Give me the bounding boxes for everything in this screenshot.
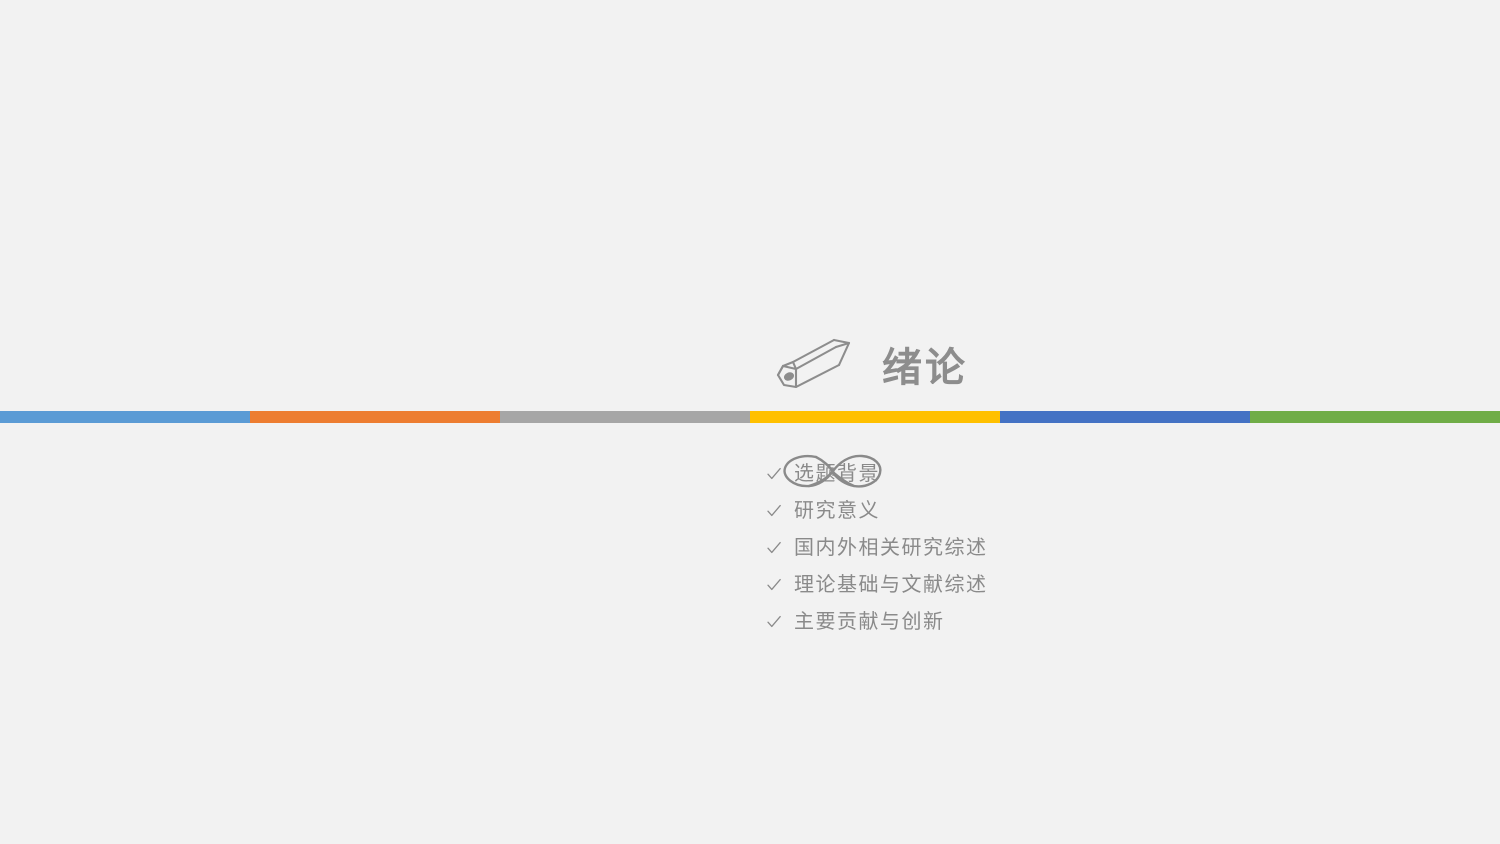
divider-segment [1250, 411, 1500, 423]
list-item[interactable]: 选题背景 [766, 455, 988, 492]
list-item-label: 理论基础与文献综述 [794, 575, 988, 595]
check-icon [766, 614, 782, 630]
divider-segment [1000, 411, 1250, 423]
section-title-block: 绪论 [770, 330, 968, 406]
color-divider-bar [0, 411, 1500, 423]
list-item-label: 研究意义 [794, 501, 880, 521]
check-icon [766, 540, 782, 556]
list-item-label: 选题背景 [794, 464, 880, 484]
list-item-label: 国内外相关研究综述 [794, 538, 988, 558]
check-icon [766, 466, 782, 482]
check-icon [766, 503, 782, 519]
list-item-label: 主要贡献与创新 [794, 612, 945, 632]
pencil-icon [770, 335, 856, 401]
page-title: 绪论 [882, 348, 968, 388]
list-item[interactable]: 研究意义 [766, 492, 988, 529]
list-item[interactable]: 主要贡献与创新 [766, 603, 988, 640]
divider-segment [0, 411, 250, 423]
list-item[interactable]: 理论基础与文献综述 [766, 566, 988, 603]
agenda-list: 选题背景 研究意义 国内外相关研究综述 [766, 455, 988, 640]
divider-segment [750, 411, 1000, 423]
list-item[interactable]: 国内外相关研究综述 [766, 529, 988, 566]
divider-segment [500, 411, 750, 423]
divider-segment [250, 411, 500, 423]
check-icon [766, 577, 782, 593]
slide-canvas: 绪论 选题背景 研究意义 [0, 0, 1500, 844]
